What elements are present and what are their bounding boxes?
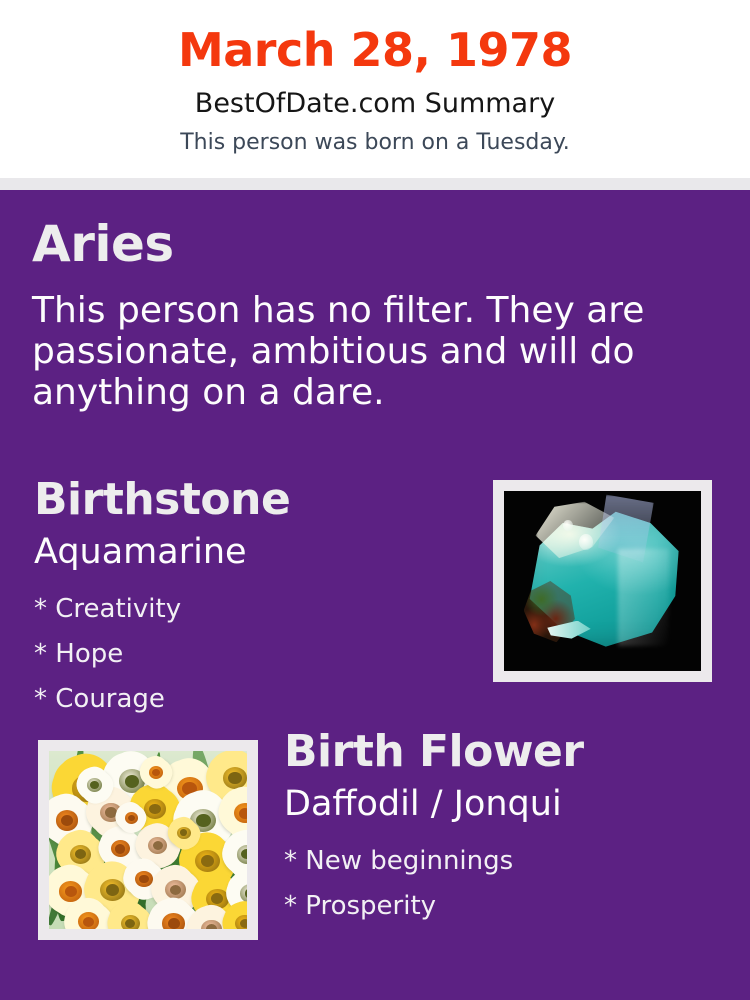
daffodil-bloom <box>140 758 172 786</box>
daffodil-center <box>168 918 180 929</box>
birth-flower-heading: Birth Flower <box>284 730 714 774</box>
card-header: March 28, 1978 BestOfDate.com Summary Th… <box>0 0 750 178</box>
site-summary-subtitle: BestOfDate.com Summary <box>0 73 750 117</box>
birthstone-image-frame <box>493 480 712 682</box>
daffodil-bloom <box>168 819 200 847</box>
birth-date-title: March 28, 1978 <box>0 0 750 73</box>
daffodil-center <box>90 781 99 789</box>
summary-card: March 28, 1978 BestOfDate.com Summary Th… <box>0 0 750 1000</box>
zodiac-description: This person has no filter. They are pass… <box>32 290 652 413</box>
birthstone-heading: Birthstone <box>34 478 474 522</box>
daffodil-center <box>153 841 163 850</box>
daffodil-center <box>239 808 247 819</box>
birth-flower-section: Birth Flower Daffodil / Jonqui * New beg… <box>284 730 714 929</box>
birthstone-image <box>504 491 701 671</box>
crystal-sparkle-icon <box>579 534 593 550</box>
daffodil-center <box>61 815 73 826</box>
daffodil-center <box>152 769 160 776</box>
daffodil-center <box>240 919 247 928</box>
birth-flower-image <box>49 751 247 929</box>
zodiac-sign-title: Aries <box>32 219 174 269</box>
daffodil-center <box>128 815 135 821</box>
daffodil-center <box>245 888 247 898</box>
list-item: * Creativity <box>34 587 474 632</box>
birthstone-name: Aquamarine <box>34 535 474 570</box>
daffodil-center <box>196 814 210 827</box>
daffodil-center <box>65 886 77 897</box>
daffodil-center <box>115 844 125 853</box>
birth-flower-traits-list: * New beginnings * Prosperity <box>284 839 714 929</box>
header-divider <box>0 178 750 190</box>
list-item: * New beginnings <box>284 839 714 884</box>
daffodil-center <box>106 884 119 896</box>
daffodil-center <box>206 924 217 929</box>
birth-flower-name: Daffodil / Jonqui <box>284 787 714 822</box>
list-item: * Hope <box>34 632 474 677</box>
birth-flower-image-frame <box>38 740 258 940</box>
list-item: * Prosperity <box>284 884 714 929</box>
crystal-sparkle-icon <box>563 520 573 531</box>
daffodil-center <box>228 772 241 784</box>
birthstone-traits-list: * Creativity * Hope * Courage <box>34 587 474 722</box>
crystal-light-streak <box>618 549 669 646</box>
daffodil-center <box>241 849 247 859</box>
daffodil-bloom <box>116 804 146 831</box>
daffodil-center <box>149 804 161 815</box>
birth-weekday-note: This person was born on a Tuesday. <box>0 117 750 154</box>
list-item: * Courage <box>34 677 474 722</box>
daffodil-center <box>125 775 139 788</box>
daffodil-bloom <box>77 769 113 801</box>
birthstone-section: Birthstone Aquamarine * Creativity * Hop… <box>34 478 474 722</box>
